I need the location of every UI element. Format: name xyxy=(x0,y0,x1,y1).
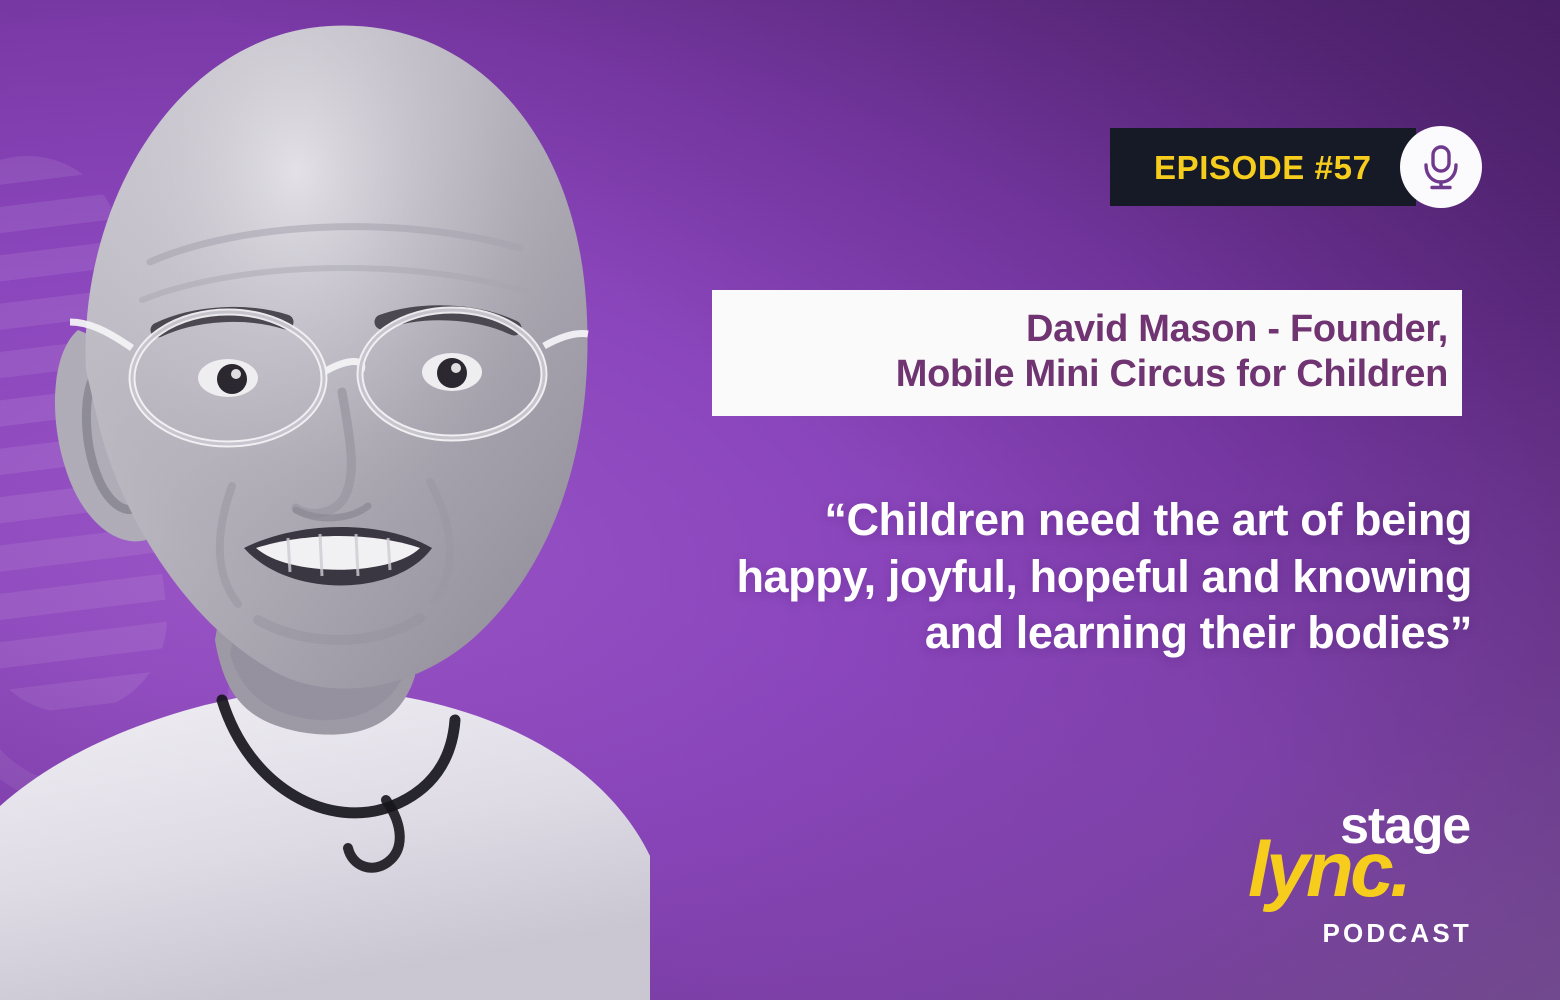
podcast-episode-graphic: EPISODE #57 David Mason - Founder, Mobil… xyxy=(0,0,1560,1000)
episode-badge-row: EPISODE #57 xyxy=(1110,128,1482,206)
guest-name-line: David Mason - Founder, xyxy=(1026,307,1448,352)
stagelync-podcast-logo: stage lync. PODCAST xyxy=(1248,800,1488,950)
quote-line-2: happy, joyful, hopeful and knowing xyxy=(592,549,1472,606)
episode-quote: “Children need the art of being happy, j… xyxy=(592,492,1472,662)
microphone-icon xyxy=(1400,126,1482,208)
logo-lync-text: lync. xyxy=(1248,830,1408,908)
guest-org-line: Mobile Mini Circus for Children xyxy=(896,352,1448,397)
quote-line-3: and learning their bodies” xyxy=(592,605,1472,662)
episode-label: EPISODE #57 xyxy=(1154,151,1372,184)
guest-title-card: David Mason - Founder, Mobile Mini Circu… xyxy=(712,290,1462,416)
episode-badge: EPISODE #57 xyxy=(1110,128,1416,206)
logo-podcast-text: PODCAST xyxy=(1322,920,1472,946)
quote-line-1: “Children need the art of being xyxy=(592,492,1472,549)
